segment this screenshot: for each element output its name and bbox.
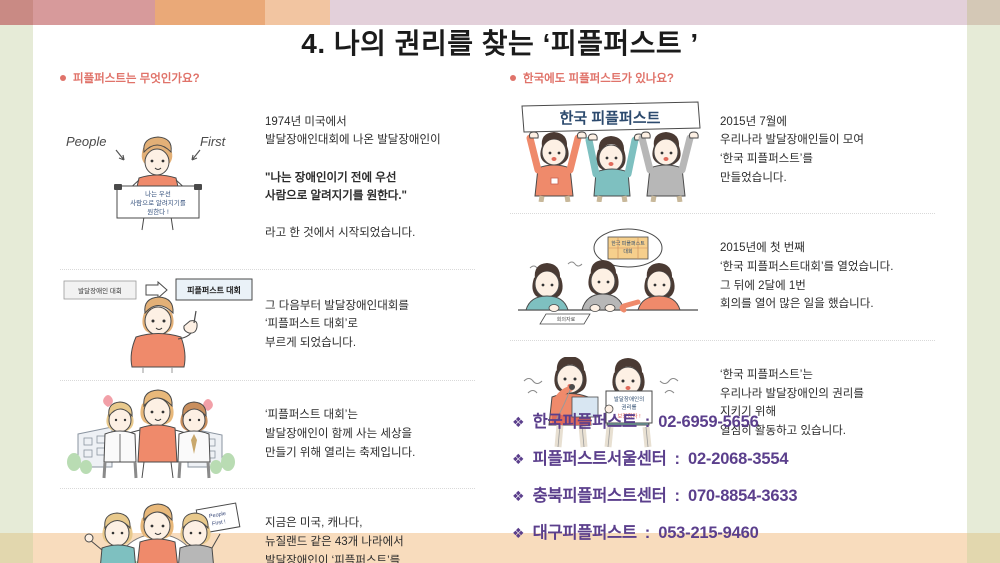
left-block-2-text-top: 그 다음부터 발달장애인대회를 ‘피플퍼스트 대회’로 부르게 되었습니다.	[265, 297, 409, 353]
contact-item[interactable]: ❖ 피플퍼스트서울센터 : 02-2068-3554	[512, 445, 942, 469]
diamond-bullet-icon: ❖	[512, 488, 525, 505]
left-block-2: 발달장애인 대회 피플퍼스트 대회	[60, 277, 475, 373]
slide-canvas: 4. 나의 권리를 찾는 ‘피플퍼스트 ’ 피플퍼스트는 무엇인가요? Peop…	[0, 0, 1000, 563]
contact-separator: :	[645, 524, 651, 543]
contact-item[interactable]: ❖ 충북피플퍼스트센터 : 070-8854-3633	[512, 482, 942, 506]
arrow-right-icon	[146, 282, 167, 298]
left-block-4-text: 지금은 미국, 캐나다, 뉴질랜드 같은 43개 나라에서 발달장애인이 ‘피플…	[265, 496, 404, 563]
bottom-segment-khaki-left	[0, 533, 33, 563]
contact-phone: 02-6959-5656	[658, 413, 758, 432]
three-people-on-globe-illustration: People First !	[60, 502, 255, 563]
left-block-1-text-top: 1974년 미국에서 발달장애인대회에 나온 발달장애인이	[265, 113, 441, 150]
right-block-2-text: 2015년에 첫 번째 ‘한국 피플퍼스트대회’를 열었습니다. 그 뒤에 2달…	[720, 221, 893, 333]
diamond-bullet-icon: ❖	[512, 525, 525, 542]
contact-separator: :	[674, 450, 680, 469]
left-block-2-text: 그 다음부터 발달장애인대회를 ‘피플퍼스트 대회’로 부르게 되었습니다.	[265, 278, 409, 371]
table-note-label: 회의자료	[557, 316, 576, 323]
contact-list: ❖ 한국피플퍼스트 : 02-6959-5656 ❖ 피플퍼스트서울센터 : 0…	[512, 408, 942, 556]
contact-phone: 070-8854-3633	[688, 487, 797, 506]
left-block-1: People First	[60, 94, 475, 262]
tag-from-label: 발달장애인 대회	[78, 286, 122, 295]
left-column-heading: 피플퍼스트는 무엇인가요?	[60, 70, 475, 86]
contact-name: 피플퍼스트서울센터	[533, 445, 667, 469]
bottom-segment-khaki-right	[967, 533, 1000, 563]
contact-name: 대구피플퍼스트	[533, 519, 637, 543]
right-divider-2	[510, 340, 935, 341]
left-block-3-text: ‘피플퍼스트 대회’는 발달장애인이 함께 사는 세상을 만들기 위해 열리는 …	[265, 388, 415, 481]
left-block-4: People First !	[60, 496, 475, 563]
left-heading-label: 피플퍼스트는 무엇인가요?	[73, 70, 200, 86]
left-divider-3	[60, 488, 475, 489]
contact-separator: :	[645, 413, 651, 432]
right-block-2-text-top: 2015년에 첫 번째 ‘한국 피플퍼스트대회’를 열었습니다. 그 뒤에 2달…	[720, 239, 893, 314]
left-block-3-text-top: ‘피플퍼스트 대회’는 발달장애인이 함께 사는 세상을 만들기 위해 열리는 …	[265, 406, 415, 462]
contact-item[interactable]: ❖ 한국피플퍼스트 : 02-6959-5656	[512, 408, 942, 432]
contact-separator: :	[674, 487, 680, 506]
people-word-label: People	[66, 134, 106, 149]
right-block-1-text-top: 2015년 7월에 우리나라 발달장애인들이 모여 ‘한국 피플퍼스트’를 만들…	[720, 113, 864, 188]
right-block-1: 한국 피플퍼스트	[510, 94, 935, 206]
page-title: 4. 나의 권리를 찾는 ‘피플퍼스트 ’	[0, 22, 1000, 62]
meeting-table-illustration: 한국 피플퍼스트 대회	[510, 228, 710, 326]
left-edge-strip	[0, 25, 33, 533]
left-block-3: ‘피플퍼스트 대회’는 발달장애인이 함께 사는 세상을 만들기 위해 열리는 …	[60, 388, 475, 481]
placard-line-1: 발달장애인의	[614, 395, 644, 403]
pointing-person-with-tags-illustration: 발달장애인 대회 피플퍼스트 대회	[60, 277, 255, 373]
tag-to-label: 피플퍼스트 대회	[187, 285, 241, 295]
bullet-dot-icon	[60, 75, 66, 81]
left-divider-1	[60, 269, 475, 270]
three-people-holding-banner-illustration: 한국 피플퍼스트	[510, 98, 710, 202]
contact-item[interactable]: ❖ 대구피플퍼스트 : 053-215-9460	[512, 519, 942, 543]
contact-name: 충북피플퍼스트센터	[533, 482, 667, 506]
sign-line-3: 원한다 !	[147, 207, 169, 216]
three-friends-city-illustration	[60, 388, 255, 480]
contact-phone: 053-215-9460	[658, 524, 758, 543]
right-heading-label: 한국에도 피플퍼스트가 있나요?	[523, 70, 674, 86]
left-block-4-text-top: 지금은 미국, 캐나다, 뉴질랜드 같은 43개 나라에서 발달장애인이 ‘피플…	[265, 514, 404, 563]
svg-text:대회: 대회	[623, 248, 632, 255]
right-column: 한국에도 피플퍼스트가 있나요? 한국 피플퍼스트	[510, 70, 935, 459]
sign-line-1: 나는 우선	[145, 189, 171, 198]
left-block-1-text: 1974년 미국에서 발달장애인대회에 나온 발달장애인이 "나는 장애인이기 …	[265, 94, 441, 262]
svg-text:한국 피플퍼스트: 한국 피플퍼스트	[611, 240, 645, 247]
first-word-label: First	[200, 134, 227, 149]
sign-line-2: 사람으로 알려지기를	[130, 198, 186, 207]
right-edge-strip	[967, 25, 1000, 533]
diamond-bullet-icon: ❖	[512, 414, 525, 431]
bullet-dot-icon	[510, 75, 516, 81]
left-column: 피플퍼스트는 무엇인가요? People First	[60, 70, 475, 563]
right-block-2: 한국 피플퍼스트 대회	[510, 221, 935, 333]
right-divider-1	[510, 213, 935, 214]
contact-name: 한국피플퍼스트	[533, 408, 637, 432]
person-holding-sign-illustration: People First	[60, 124, 255, 232]
left-divider-2	[60, 380, 475, 381]
contact-phone: 02-2068-3554	[688, 450, 788, 469]
banner-text-label: 한국 피플퍼스트	[560, 110, 661, 127]
left-block-1-text-bottom: 라고 한 것에서 시작되었습니다.	[265, 224, 441, 243]
left-block-1-text-bold: "나는 장애인이기 전에 우선 사람으로 알려지기를 원한다."	[265, 169, 441, 206]
diamond-bullet-icon: ❖	[512, 451, 525, 468]
right-column-heading: 한국에도 피플퍼스트가 있나요?	[510, 70, 935, 86]
right-block-1-text: 2015년 7월에 우리나라 발달장애인들이 모여 ‘한국 피플퍼스트’를 만들…	[720, 94, 864, 206]
